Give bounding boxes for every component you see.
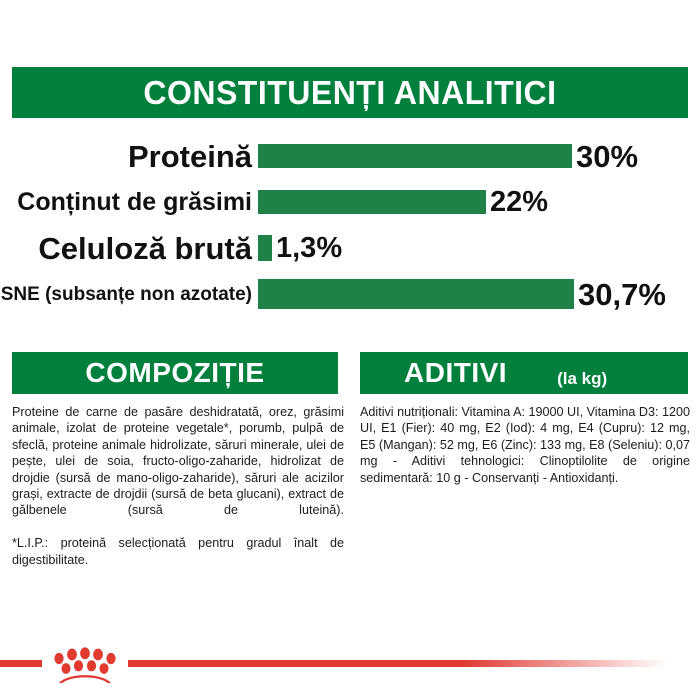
analytical-constituents-chart: Proteină 30% Conținut de grăsimi 22% Cel… bbox=[0, 130, 700, 322]
bar-track-crude-fibre: 1,3% bbox=[258, 234, 700, 263]
bar-label-nfe: SNE (subsanțe non azotate) bbox=[0, 285, 258, 304]
additives-banner: ADITIVI (la kg) bbox=[360, 352, 688, 394]
chart-row-protein: Proteină 30% bbox=[0, 136, 700, 176]
composition-footnote: *L.I.P.: proteină selecționată pentru gr… bbox=[12, 535, 344, 568]
chart-row-nfe: SNE (subsanțe non azotate) 30,7% bbox=[0, 273, 700, 315]
chart-row-crude-fibre: Celuloză brută 1,3% bbox=[0, 228, 700, 268]
composition-banner: COMPOZIȚIE bbox=[12, 352, 338, 394]
additives-unit-note: (la kg) bbox=[557, 369, 607, 389]
bar-label-protein: Proteină bbox=[0, 141, 258, 172]
footer-rule-left bbox=[0, 660, 42, 667]
bar-track-nfe: 30,7% bbox=[258, 279, 700, 310]
bar-value-fat-content: 22% bbox=[490, 188, 548, 217]
composition-body: Proteine de carne de pasăre deshidratată… bbox=[12, 404, 344, 535]
chart-row-fat-content: Conținut de grăsimi 22% bbox=[0, 182, 700, 222]
analytical-constituents-title: CONSTITUENȚI ANALITICI bbox=[143, 74, 556, 112]
bar-fill-nfe bbox=[258, 279, 574, 309]
additives-title: ADITIVI bbox=[404, 357, 507, 389]
bar-fill-crude-fibre bbox=[258, 235, 272, 261]
composition-title: COMPOZIȚIE bbox=[85, 357, 264, 389]
bar-value-nfe: 30,7% bbox=[578, 279, 666, 310]
footer-rule-right bbox=[128, 660, 668, 667]
composition-text-block: Proteine de carne de pasăre deshidratată… bbox=[12, 404, 344, 568]
bar-track-fat-content: 22% bbox=[258, 188, 700, 217]
bar-label-crude-fibre: Celuloză brută bbox=[0, 233, 258, 264]
royal-canin-crown-icon bbox=[46, 645, 124, 685]
bar-fill-protein bbox=[258, 144, 572, 168]
bar-fill-fat-content bbox=[258, 190, 486, 214]
analytical-constituents-banner: CONSTITUENȚI ANALITICI bbox=[12, 67, 688, 118]
bar-value-crude-fibre: 1,3% bbox=[276, 234, 342, 263]
additives-text-block: Aditivi nutriționali: Vitamina A: 19000 … bbox=[360, 404, 690, 486]
additives-body: Aditivi nutriționali: Vitamina A: 19000 … bbox=[360, 404, 690, 486]
footer-brand-band bbox=[0, 648, 700, 678]
bar-label-fat-content: Conținut de grăsimi bbox=[0, 190, 258, 215]
bar-value-protein: 30% bbox=[576, 141, 638, 172]
bar-track-protein: 30% bbox=[258, 141, 700, 172]
